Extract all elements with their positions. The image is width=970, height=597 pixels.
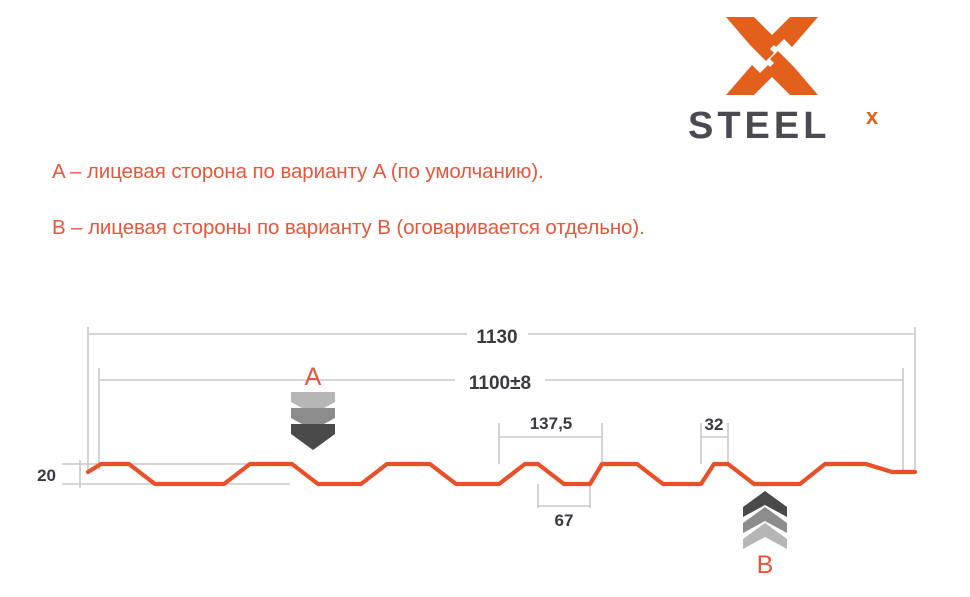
dimension-total-width: 1130 [88,327,915,470]
dimension-label-1100: 1100±8 [469,373,531,394]
dimension-crest-width: 32 [701,415,728,464]
marker-b-label: B [757,551,774,579]
dimension-wave-pitch: 137,5 [499,414,602,464]
dimension-label-20: 20 [37,466,56,485]
dimension-useful-width: 1100±8 [99,368,903,470]
dimension-label-67: 67 [555,511,574,530]
dimension-label-137-5: 137,5 [530,414,573,433]
corrugated-profile-line [88,464,915,484]
dimension-valley-width: 67 [538,484,590,530]
chevron-down-icon-3 [291,424,335,450]
profile-technical-drawing: 1130 1100±8 137,5 32 67 20 [0,0,970,597]
marker-variant-b: B [743,491,787,579]
dimension-label-32: 32 [705,415,724,434]
marker-variant-a: A [291,363,335,450]
dimension-label-1130: 1130 [476,327,517,348]
marker-a-label: A [305,363,322,391]
